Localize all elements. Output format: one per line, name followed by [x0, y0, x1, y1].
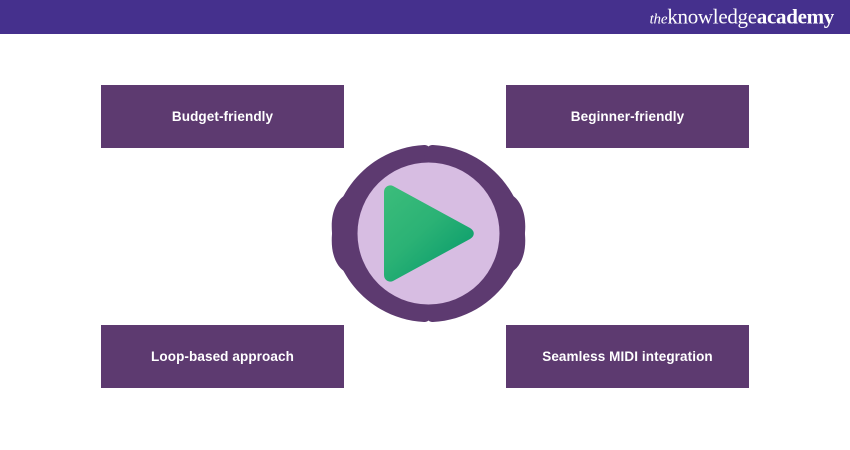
feature-box-bottom-right-label: Seamless MIDI integration: [542, 349, 713, 364]
feature-box-top-left-label: Budget-friendly: [172, 109, 273, 124]
brand-logo-knowledge: knowledge: [667, 5, 756, 29]
feature-box-top-left[interactable]: Budget-friendly: [101, 85, 344, 148]
diagram-canvas: Budget-friendly Beginner-friendly Loop-b…: [0, 34, 850, 450]
feature-box-bottom-left[interactable]: Loop-based approach: [101, 325, 344, 388]
feature-box-bottom-right[interactable]: Seamless MIDI integration: [506, 325, 749, 388]
play-button-flower-emblem: [321, 126, 536, 341]
header-bar: theknowledgeacademy: [0, 0, 850, 34]
feature-box-top-right-label: Beginner-friendly: [571, 109, 684, 124]
brand-logo-the: the: [650, 12, 668, 28]
brand-logo-academy: academy: [757, 5, 834, 29]
feature-box-bottom-left-label: Loop-based approach: [151, 349, 294, 364]
feature-box-top-right[interactable]: Beginner-friendly: [506, 85, 749, 148]
brand-logo: theknowledgeacademy: [650, 7, 834, 28]
